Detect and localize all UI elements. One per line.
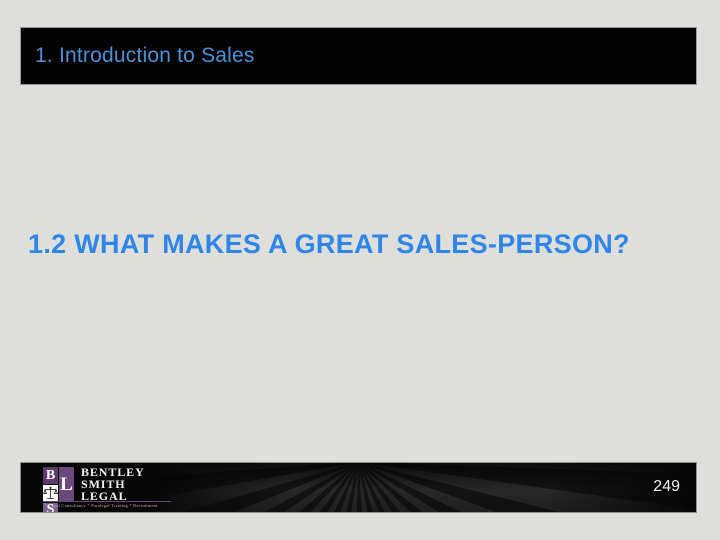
page-title: 1.2 WHAT MAKES A GREAT SALES-PERSON?: [28, 224, 648, 265]
logo-wordmark: BENTLEY SMITH LEGAL: [81, 467, 145, 502]
logo-mark-b: B: [43, 467, 58, 484]
logo-mark-l: L: [59, 467, 74, 502]
logo-tagline: * Legal Consultancy * Paralegal Training…: [45, 503, 158, 508]
slide-header-bar: 1. Introduction to Sales: [20, 27, 697, 85]
page-number: 249: [653, 478, 680, 496]
slide-footer-bar: B L S BE: [20, 462, 697, 513]
presentation-slide: 1. Introduction to Sales 1.2 WHAT MAKES …: [0, 0, 720, 540]
slide-header-title: 1. Introduction to Sales: [21, 44, 255, 68]
slide-title-block: 1.2 WHAT MAKES A GREAT SALES-PERSON?: [28, 224, 648, 265]
scales-of-justice-icon: [43, 485, 58, 502]
logo-divider: [43, 501, 171, 502]
